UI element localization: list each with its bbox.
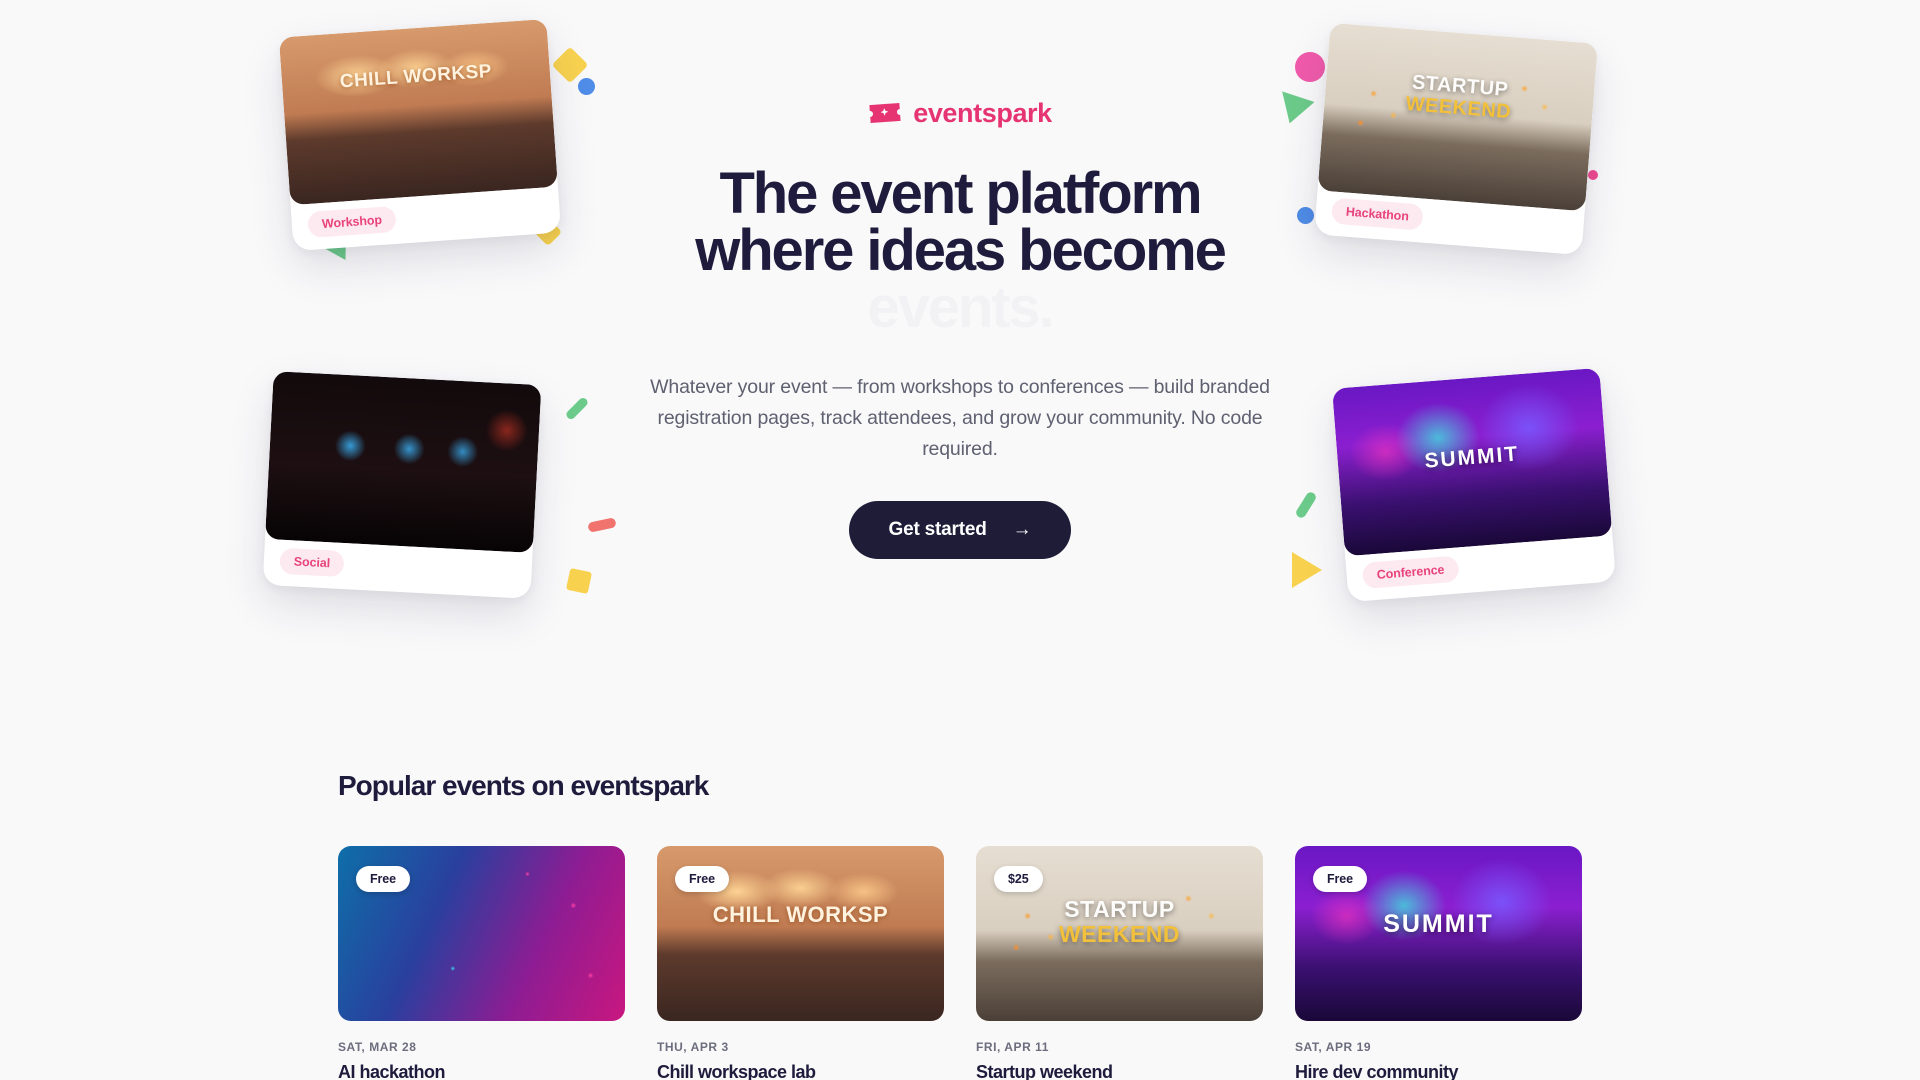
card-tag-wrap: Conference: [1362, 556, 1460, 589]
photo-wall-text-bottom: WEEKEND: [976, 921, 1263, 948]
section-title: Popular events on eventspark: [338, 770, 1582, 802]
photo-wall-text: SUMMIT: [1337, 436, 1606, 481]
headline-line-3-ghost: events.: [640, 280, 1280, 337]
card-tag-hackathon: Hackathon: [1331, 198, 1424, 231]
price-badge: Free: [356, 866, 410, 892]
headline-line-2: where ideas become: [640, 223, 1280, 280]
brand-logo[interactable]: eventspark: [640, 96, 1280, 130]
hero-subtitle: Whatever your event — from workshops to …: [640, 372, 1280, 464]
photo-wall-text-bottom: WEEKEND: [1324, 87, 1593, 131]
page-title: The event platform where ideas become ev…: [640, 166, 1280, 336]
event-date: SAT, MAR 28: [338, 1040, 625, 1054]
cta-wrap: Get started →: [640, 501, 1280, 559]
photo-wall-text-top: STARTUP: [1326, 65, 1595, 109]
event-title: AI hackathon: [338, 1062, 625, 1080]
decor-circle-magenta: [1295, 52, 1325, 82]
decor-bar-green: [565, 396, 590, 421]
neon-summit-stage-photo: SUMMIT: [1332, 368, 1612, 557]
event-title: Chill workspace lab: [657, 1062, 944, 1080]
photo-wall-text: CHILL WORKSP: [282, 57, 551, 98]
ai-robot-hands-photo: Free: [338, 846, 625, 1021]
dark-gaming-lounge-photo: [265, 371, 541, 553]
decor-square-yellow: [566, 568, 592, 594]
floating-card-hackathon[interactable]: STARTUP WEEKEND Hackathon: [1314, 23, 1598, 255]
photo-wall-text: CHILL WORKSP: [657, 902, 944, 928]
event-card[interactable]: Free SAT, MAR 28 AI hackathon: [338, 846, 625, 1080]
decor-circle-blue: [578, 78, 595, 95]
photo-wall-text: SUMMIT: [1295, 910, 1582, 939]
card-tag-wrap: Hackathon: [1331, 198, 1424, 231]
event-card-grid: Free SAT, MAR 28 AI hackathon Free CHILL…: [338, 846, 1582, 1080]
floating-card-workshop[interactable]: CHILL WORKSP Workshop: [279, 19, 561, 251]
floating-card-social[interactable]: Social: [263, 371, 542, 599]
brand-name: eventspark: [913, 98, 1052, 129]
headline-line-1: The event platform: [640, 166, 1280, 223]
event-card[interactable]: Free CHILL WORKSP THU, APR 3 Chill works…: [657, 846, 944, 1080]
get-started-button[interactable]: Get started →: [849, 501, 1072, 559]
price-badge: Free: [1313, 866, 1367, 892]
card-tag-social: Social: [279, 548, 345, 577]
neon-summit-stage-photo: Free SUMMIT: [1295, 846, 1582, 1021]
hero-section: CHILL WORKSP Workshop STARTUP WEEKEND Ha…: [0, 0, 1920, 740]
photo-wall-text-top: STARTUP: [976, 896, 1263, 923]
card-tag-workshop: Workshop: [307, 206, 397, 238]
ticket-icon: [868, 101, 902, 125]
card-tag-wrap: Social: [279, 548, 345, 577]
decor-dot-pink-right: [1588, 170, 1598, 180]
event-date: SAT, APR 19: [1295, 1040, 1582, 1054]
coworking-space-photo: CHILL WORKSP: [279, 19, 558, 205]
startup-weekend-photo: $25 STARTUP WEEKEND: [976, 846, 1263, 1021]
price-badge: $25: [994, 866, 1043, 892]
get-started-label: Get started: [889, 519, 987, 541]
event-card[interactable]: Free SUMMIT SAT, APR 19 Hire dev communi…: [1295, 846, 1582, 1080]
event-title: Startup weekend: [976, 1062, 1263, 1080]
coworking-space-photo: Free CHILL WORKSP: [657, 846, 944, 1021]
event-date: THU, APR 3: [657, 1040, 944, 1054]
card-tag-conference: Conference: [1362, 556, 1460, 589]
decor-bar-red: [587, 517, 616, 533]
event-date: FRI, APR 11: [976, 1040, 1263, 1054]
decor-circle-blue-2: [1297, 207, 1314, 224]
price-badge: Free: [675, 866, 729, 892]
arrow-right-icon: →: [1013, 520, 1032, 539]
startup-weekend-photo: STARTUP WEEKEND: [1318, 23, 1598, 212]
event-title: Hire dev community: [1295, 1062, 1582, 1080]
popular-events-section: Popular events on eventspark Free SAT, M…: [338, 770, 1582, 1080]
decor-bar-green-2: [1294, 490, 1317, 519]
floating-card-conference[interactable]: SUMMIT Conference: [1332, 368, 1616, 602]
hero-content: eventspark The event platform where idea…: [640, 96, 1280, 559]
card-tag-wrap: Workshop: [307, 206, 397, 238]
decor-triangle-yellow: [1292, 552, 1322, 588]
event-card[interactable]: $25 STARTUP WEEKEND FRI, APR 11 Startup …: [976, 846, 1263, 1080]
